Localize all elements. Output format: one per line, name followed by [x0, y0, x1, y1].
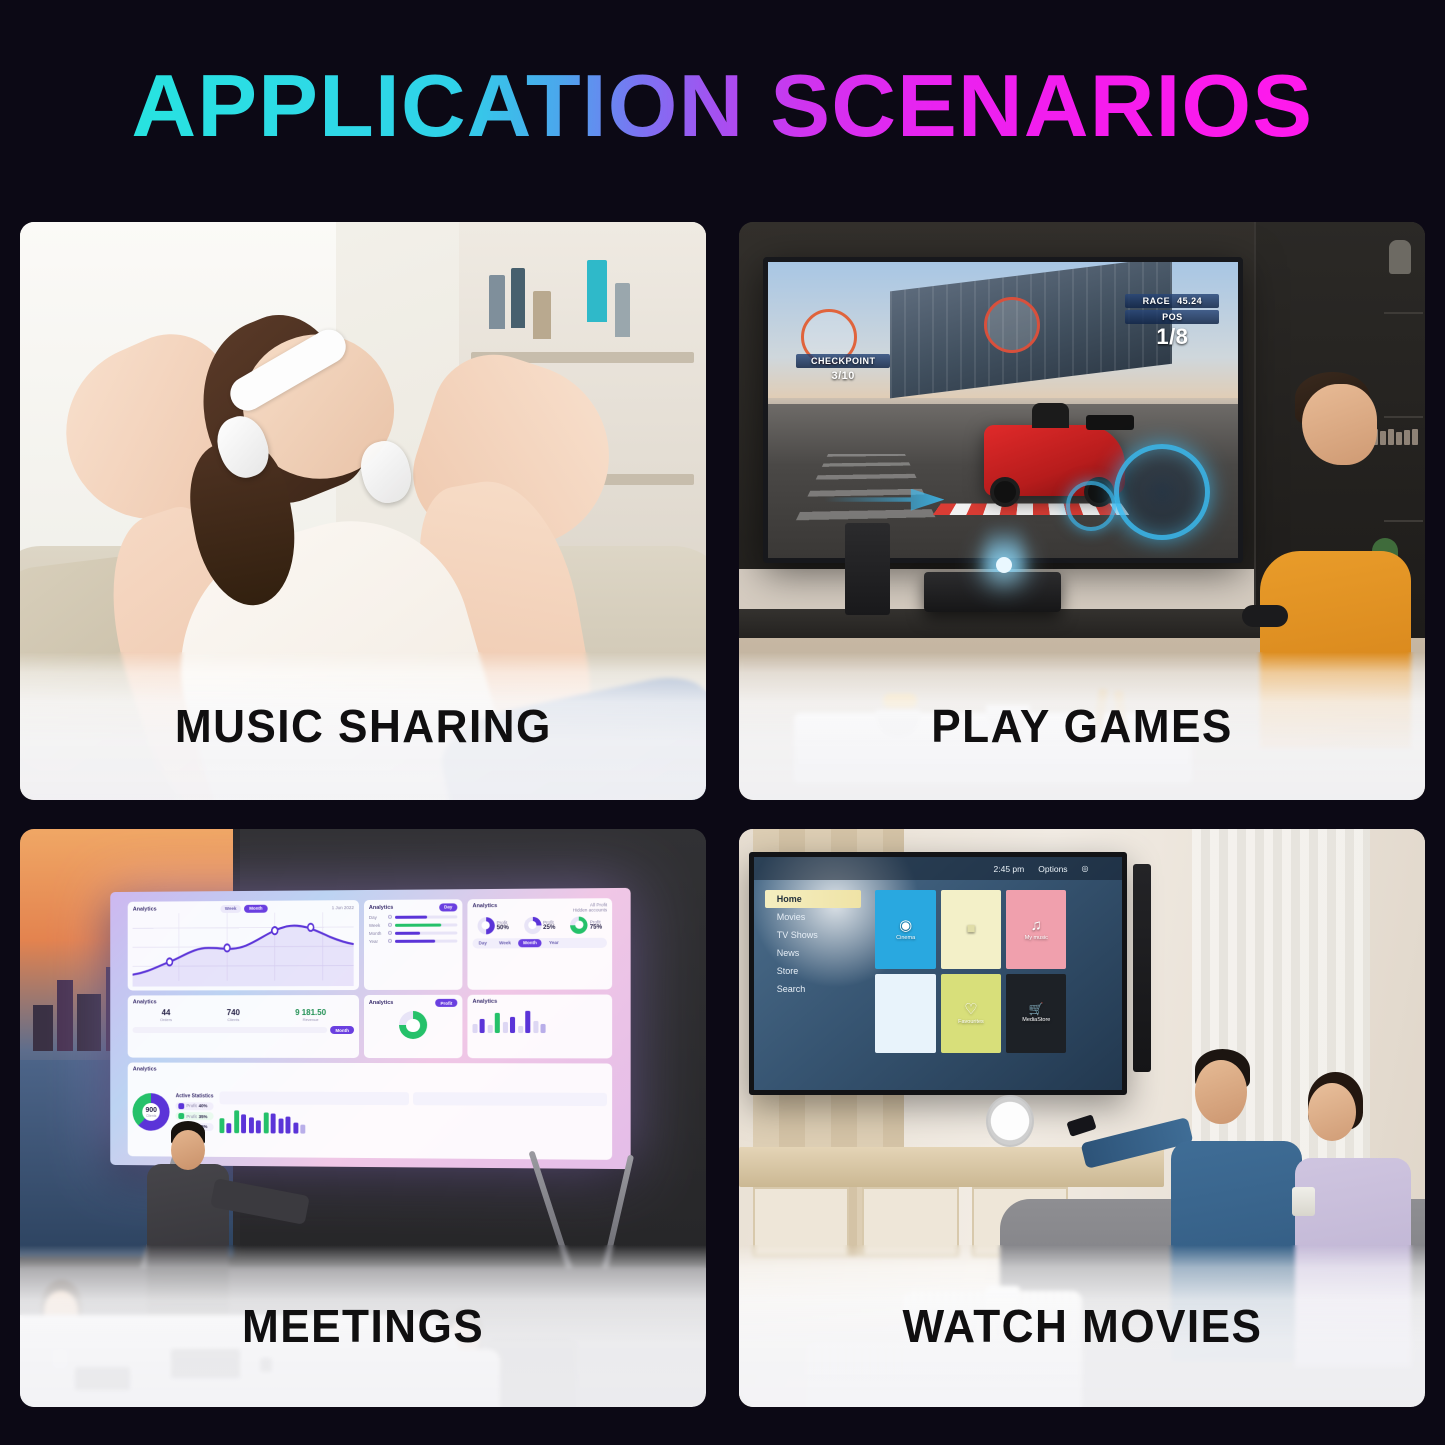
player-head: [1302, 384, 1377, 465]
heart-icon: ♡: [964, 1002, 977, 1017]
ring-label: Profit: [496, 919, 508, 924]
scenario-card-meetings[interactable]: Analytics Week Month 1 Jun 2022: [20, 829, 706, 1407]
donut-caption: Clients: [146, 1113, 156, 1117]
dash-card-periods: Analytics Day Day: [364, 899, 462, 990]
caption-text: WATCH MOVIES: [902, 1299, 1262, 1353]
page-title-wrap: APPLICATION SCENARIOS: [0, 62, 1445, 150]
tv-console: [739, 609, 1274, 638]
coffee-mug: [1292, 1187, 1315, 1216]
shopping-cart-icon: 🛒: [1029, 1003, 1044, 1015]
tower-speaker: [845, 523, 890, 615]
tv-menu-item-tv-shows[interactable]: TV Shows: [765, 926, 860, 944]
film-reel-icon: ◉: [899, 918, 912, 933]
tv-tile-my-music[interactable]: ♫ My music: [1006, 890, 1066, 969]
tv-tile-mediastore[interactable]: 🛒 MediaStore: [1006, 974, 1066, 1053]
stat-value: 9 181.50: [295, 1008, 326, 1017]
tab-day[interactable]: Day: [473, 939, 491, 947]
dash-card-gauge: Analytics Profit: [364, 995, 462, 1058]
dash-all-profit: All Profit: [572, 902, 606, 907]
tv-menu-item-news[interactable]: News: [765, 944, 860, 962]
analytics-dashboard: Analytics Week Month 1 Jun 2022: [128, 898, 612, 1160]
tv-menu-item-search[interactable]: Search: [765, 980, 860, 998]
active-row-value: 35%: [198, 1114, 207, 1119]
dash-card-profit-rings: Analytics All Profit Hidden accounts: [467, 898, 612, 990]
projector-lens-glow: [996, 557, 1012, 573]
gallery-icon: ■: [966, 921, 975, 936]
caption-meetings: MEETINGS: [20, 1245, 706, 1407]
dash-tab-week[interactable]: Week: [220, 904, 241, 912]
ring-value: 25%: [543, 924, 555, 930]
racing-game-screen: CHECKPOINT 3/10 RACE 45.24 POS 1/8: [768, 262, 1238, 558]
active-row-value: 40%: [198, 1103, 207, 1108]
tv-menu-item-movies[interactable]: Movies: [765, 908, 860, 926]
hud-checkpoint-label: CHECKPOINT: [796, 354, 890, 368]
ring-value: 75%: [590, 924, 602, 930]
stat-label: Clients: [227, 1017, 239, 1022]
stat-value: 44: [161, 1008, 170, 1017]
laser-projector: [924, 572, 1061, 612]
soundbar-speaker: [1133, 864, 1151, 1072]
tv-tile-blank[interactable]: [875, 974, 935, 1053]
dash-period-month: Month: [369, 930, 385, 935]
hud-checkpoint-value: 3/10: [796, 370, 890, 382]
tv-options-button[interactable]: Options: [1038, 864, 1067, 874]
dash-date: 1 Jun 2022: [331, 905, 353, 910]
tab-week[interactable]: Week: [494, 939, 516, 947]
dash-card-title: Analytics: [472, 902, 497, 908]
dash-card-bars-small: Analytics: [467, 995, 612, 1058]
hud-race-label: RACE: [1143, 296, 1171, 306]
tv-tile-cinema[interactable]: ◉ Cinema: [875, 890, 935, 969]
tv-tile-favourites[interactable]: ♡ Favourites: [941, 974, 1001, 1053]
music-note-icon: ♫: [1031, 918, 1042, 933]
scenario-card-watch-movies[interactable]: 2:45 pm Options ◎ Home Movies TV Shows N…: [739, 829, 1425, 1407]
secondary-gauge: [1066, 481, 1116, 531]
tv-status-bar: 2:45 pm Options ◎: [754, 857, 1121, 880]
game-controller: [1242, 605, 1288, 627]
presenter-head: [171, 1130, 205, 1170]
dash-card-title: Analytics: [133, 906, 157, 912]
caption-play-games: PLAY GAMES: [739, 652, 1425, 800]
dash-tab-month[interactable]: Month: [244, 904, 267, 912]
hud-race-pos: RACE 45.24 POS 1/8: [1125, 294, 1219, 348]
dash-card-title: Analytics: [369, 904, 393, 910]
active-row-label: Profit: [186, 1103, 196, 1108]
dash-card-stats: Analytics 44 Orders 740 Clients 9 181.50…: [128, 995, 359, 1057]
stat-label: Revenue: [302, 1017, 318, 1022]
caption-watch-movies: WATCH MOVIES: [739, 1245, 1425, 1407]
dash-period-day: Day: [369, 914, 385, 919]
dash-line-chart: [133, 911, 354, 986]
tv-nav-menu: Home Movies TV Shows News Store Search: [765, 890, 860, 998]
active-row-label: Profit: [186, 1114, 196, 1119]
donut-center-value: 900: [145, 1106, 156, 1113]
tv-menu-item-home[interactable]: Home: [765, 890, 860, 908]
hud-pos-label: POS: [1125, 310, 1219, 324]
smart-tv: 2:45 pm Options ◎ Home Movies TV Shows N…: [749, 852, 1126, 1095]
hud-checkpoint: CHECKPOINT 3/10: [796, 354, 890, 382]
dash-action-pill[interactable]: Month: [330, 1026, 353, 1034]
tv-home-screen: 2:45 pm Options ◎ Home Movies TV Shows N…: [754, 857, 1121, 1090]
dash-card-line: Analytics Week Month 1 Jun 2022: [128, 899, 359, 990]
tab-month-active[interactable]: Month: [518, 938, 542, 946]
hud-pos-value: 1/8: [1125, 326, 1219, 348]
tv-tile-grid: ◉ Cinema ■ ♫ My music: [875, 890, 1066, 1053]
dash-card-title: Analytics: [133, 999, 354, 1005]
dash-period-year: Year: [369, 938, 385, 943]
scenario-card-play-games[interactable]: CHECKPOINT 3/10 RACE 45.24 POS 1/8: [739, 222, 1425, 800]
stat-value: 740: [227, 1008, 240, 1017]
dash-gauge-pill[interactable]: Profit: [435, 999, 457, 1007]
hud-race-time: 45.24: [1177, 296, 1202, 306]
projector-screen: CHECKPOINT 3/10 RACE 45.24 POS 1/8: [763, 257, 1243, 563]
tv-tile-label: My music: [1025, 935, 1048, 941]
tv-tile-label: Favourites: [958, 1019, 984, 1025]
scenario-card-music-sharing[interactable]: MUSIC SHARING: [20, 222, 706, 800]
application-scenarios-poster: APPLICATION SCENARIOS: [0, 0, 1445, 1445]
cast-icon[interactable]: ◎: [1082, 864, 1089, 873]
page-title: APPLICATION SCENARIOS: [132, 62, 1314, 150]
tv-menu-item-store[interactable]: Store: [765, 962, 860, 980]
dash-card-title: Analytics: [369, 1000, 393, 1006]
dash-hidden-accounts: Hidden accounts: [572, 907, 606, 912]
stat-label: Orders: [160, 1017, 172, 1022]
tab-year[interactable]: Year: [544, 938, 564, 946]
caption-text: MEETINGS: [242, 1299, 484, 1353]
ring-label: Profit: [543, 919, 555, 924]
dash-card-title: Analytics: [472, 999, 607, 1005]
caption-text: PLAY GAMES: [931, 699, 1233, 753]
ring-value: 50%: [496, 925, 508, 931]
dash-filter-pill[interactable]: Day: [439, 903, 457, 911]
dash-period-week: Week: [369, 922, 385, 927]
tv-tile-label: MediaStore: [1022, 1017, 1050, 1023]
man-head: [1195, 1060, 1246, 1124]
caption-text: MUSIC SHARING: [175, 699, 552, 753]
caption-music-sharing: MUSIC SHARING: [20, 652, 706, 800]
tv-tile-label: Cinema: [896, 935, 915, 941]
speedometer-gauge: [1114, 444, 1210, 540]
table-clock: [986, 1095, 1034, 1147]
dash-bar-chart: [219, 1107, 607, 1135]
ring-label: Profit: [590, 919, 602, 924]
active-statistics-title: Active Statistics: [175, 1093, 213, 1099]
tv-tile-gallery[interactable]: ■: [941, 890, 1001, 969]
scenario-grid: MUSIC SHARING: [20, 222, 1425, 1422]
tv-clock: 2:45 pm: [994, 864, 1025, 874]
